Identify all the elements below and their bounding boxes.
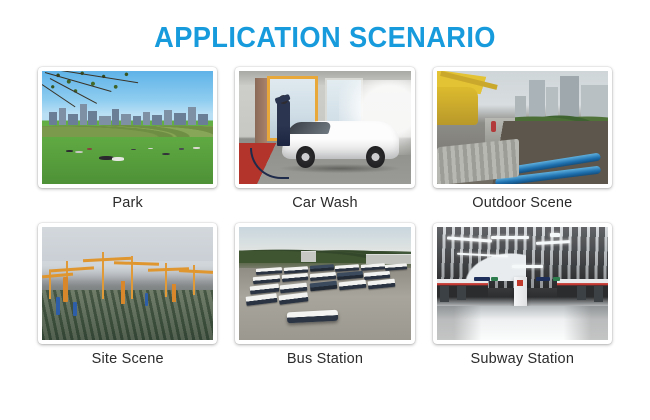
scenario-label: Outdoor Scene <box>472 195 572 211</box>
car-wash-photo <box>239 71 410 184</box>
crane-body <box>437 87 478 125</box>
scenario-card-car-wash[interactable]: Car Wash <box>235 67 414 211</box>
photo-frame <box>433 223 612 344</box>
park-treeline <box>42 121 213 137</box>
photo-frame <box>433 67 612 188</box>
photo-frame <box>38 223 217 344</box>
photo-frame <box>38 67 217 188</box>
pillar-sign <box>517 280 523 286</box>
steel-road-plates <box>437 139 519 184</box>
worker-body <box>277 100 290 145</box>
ceiling-light <box>491 236 529 239</box>
scenario-label: Bus Station <box>287 351 363 367</box>
scenario-card-site-scene[interactable]: Site Scene <box>38 223 217 367</box>
parked-bus <box>284 266 308 273</box>
platform-sign <box>474 277 489 282</box>
scenario-card-park[interactable]: Park <box>38 67 217 211</box>
scenario-label: Subway Station <box>471 351 575 367</box>
platform-sign <box>553 277 560 282</box>
car-wheel-rear <box>366 146 385 169</box>
ceiling-light <box>550 233 560 237</box>
ceiling-light <box>512 265 543 267</box>
scenario-label: Site Scene <box>92 351 164 367</box>
park-branches <box>42 71 176 118</box>
crane-tower <box>63 277 68 302</box>
bus-station-photo <box>239 227 410 340</box>
park-photo <box>42 71 213 184</box>
scenario-grid: Park <box>0 53 650 367</box>
photo-frame <box>235 223 414 344</box>
car-windshield <box>287 122 332 134</box>
platform-sign <box>491 277 498 282</box>
scenario-card-outdoor-scene[interactable]: Outdoor Scene <box>433 67 612 211</box>
scenario-card-bus-station[interactable]: Bus Station <box>235 223 414 367</box>
park-people <box>42 141 213 170</box>
platform-sign <box>536 277 550 282</box>
site-scene-photo <box>42 227 213 340</box>
crane-tower <box>172 284 176 302</box>
ceiling-curved-panel <box>450 243 525 281</box>
application-scenario-slide: APPLICATION SCENARIO <box>0 0 650 420</box>
floor-reflection <box>437 306 608 340</box>
subway-station-photo <box>437 227 608 340</box>
car-wheel-front <box>296 146 315 169</box>
garage-pillar <box>255 78 267 148</box>
outdoor-scene-photo <box>437 71 608 184</box>
scenario-card-subway-station[interactable]: Subway Station <box>433 223 612 367</box>
photo-frame <box>235 67 414 188</box>
page-title: APPLICATION SCENARIO <box>20 0 631 53</box>
scenario-label: Park <box>112 195 143 211</box>
scenario-label: Car Wash <box>292 195 358 211</box>
crane-tower <box>121 281 125 304</box>
